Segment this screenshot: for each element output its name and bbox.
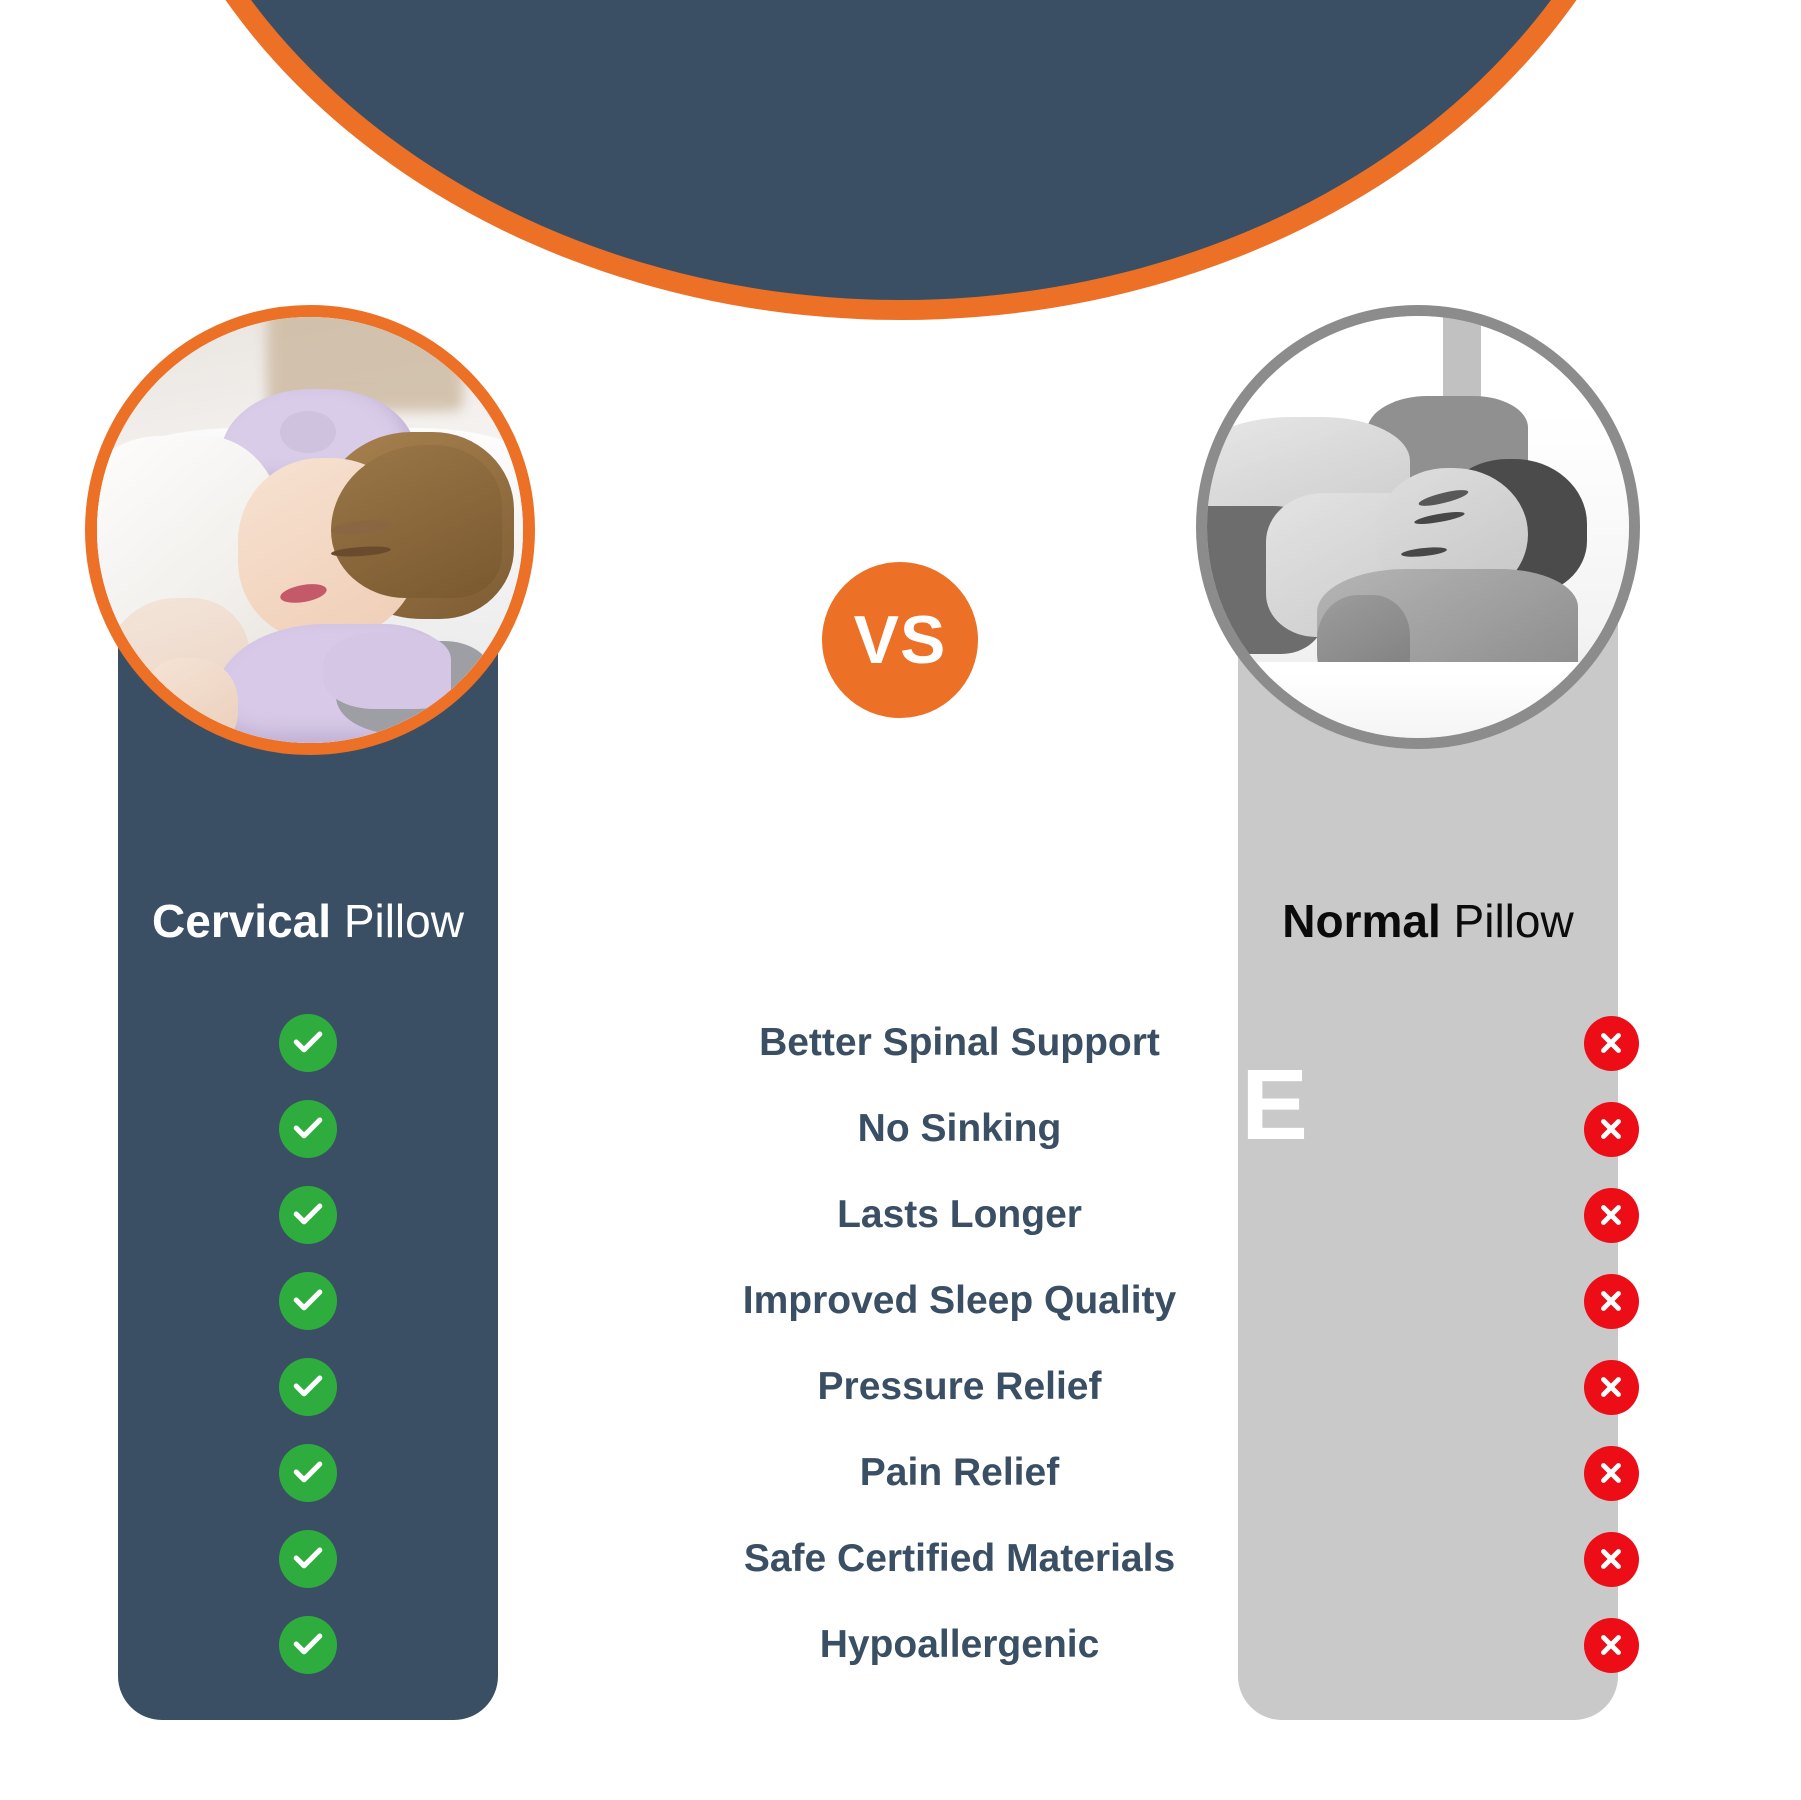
- feature-row: No Sinking: [0, 1086, 1801, 1172]
- header-arc-inner-fill: [138, 0, 1664, 300]
- cervical-pillow-title-bold: Cervical: [152, 895, 331, 947]
- feature-row: Improved Sleep Quality: [0, 1258, 1801, 1344]
- cervical-pillow-title-regular: Pillow: [344, 895, 464, 947]
- feature-row: Pressure Relief: [0, 1344, 1801, 1430]
- check-circle-icon: [279, 1100, 337, 1158]
- normal-pillow-mark-cell: [1421, 1618, 1801, 1673]
- cervical-pillow-mark-cell: [118, 1530, 498, 1588]
- vs-badge: VS: [822, 562, 978, 718]
- cervical-pillow-mark-cell: [118, 1272, 498, 1330]
- vs-badge-label: VS: [854, 601, 947, 679]
- feature-row: Lasts Longer: [0, 1172, 1801, 1258]
- feature-label: Hypoallergenic: [498, 1623, 1421, 1667]
- normal-pillow-photo: [1196, 305, 1640, 749]
- check-circle-icon: [279, 1530, 337, 1588]
- header-arc-banner: [0, 0, 1801, 320]
- normal-pillow-mark-cell: [1421, 1188, 1801, 1243]
- feature-label: No Sinking: [498, 1107, 1421, 1151]
- normal-pillow-mark-cell: [1421, 1360, 1801, 1415]
- check-circle-icon: [279, 1444, 337, 1502]
- check-circle-icon: [279, 1358, 337, 1416]
- feature-label: Lasts Longer: [498, 1193, 1421, 1237]
- feature-label: Pain Relief: [498, 1451, 1421, 1495]
- normal-pillow-mark-cell: [1421, 1016, 1801, 1071]
- cross-circle-icon: [1584, 1446, 1639, 1501]
- cervical-pillow-title: Cervical Pillow: [118, 898, 498, 944]
- cervical-pillow-mark-cell: [118, 1014, 498, 1072]
- feature-label: Pressure Relief: [498, 1365, 1421, 1409]
- feature-row: Hypoallergenic: [0, 1602, 1801, 1688]
- check-circle-icon: [279, 1186, 337, 1244]
- feature-label: Safe Certified Materials: [498, 1537, 1421, 1581]
- feature-row: Safe Certified Materials: [0, 1516, 1801, 1602]
- check-circle-icon: [279, 1014, 337, 1072]
- feature-label: Improved Sleep Quality: [498, 1279, 1421, 1323]
- normal-pillow-mark-cell: [1421, 1274, 1801, 1329]
- cervical-pillow-photo-illustration: [97, 317, 523, 743]
- cervical-pillow-photo: [85, 305, 535, 755]
- cervical-pillow-mark-cell: [118, 1444, 498, 1502]
- cross-circle-icon: [1584, 1360, 1639, 1415]
- feature-comparison-list: Better Spinal SupportNo SinkingLasts Lon…: [0, 1000, 1801, 1688]
- feature-row: Better Spinal Support: [0, 1000, 1801, 1086]
- cross-circle-icon: [1584, 1532, 1639, 1587]
- cervical-pillow-mark-cell: [118, 1100, 498, 1158]
- check-circle-icon: [279, 1272, 337, 1330]
- cervical-pillow-mark-cell: [118, 1358, 498, 1416]
- comparison-infographic: LET’S COMPARE: [0, 0, 1801, 1800]
- feature-row: Pain Relief: [0, 1430, 1801, 1516]
- cervical-pillow-mark-cell: [118, 1616, 498, 1674]
- normal-pillow-title-bold: Normal: [1282, 895, 1440, 947]
- normal-pillow-title-regular: Pillow: [1454, 895, 1574, 947]
- normal-pillow-photo-illustration: [1207, 316, 1629, 738]
- cross-circle-icon: [1584, 1188, 1639, 1243]
- normal-pillow-mark-cell: [1421, 1532, 1801, 1587]
- normal-pillow-mark-cell: [1421, 1102, 1801, 1157]
- check-circle-icon: [279, 1616, 337, 1674]
- cross-circle-icon: [1584, 1274, 1639, 1329]
- feature-label: Better Spinal Support: [498, 1021, 1421, 1065]
- cross-circle-icon: [1584, 1618, 1639, 1673]
- cross-circle-icon: [1584, 1102, 1639, 1157]
- cervical-pillow-mark-cell: [118, 1186, 498, 1244]
- cross-circle-icon: [1584, 1016, 1639, 1071]
- normal-pillow-title: Normal Pillow: [1238, 898, 1618, 944]
- normal-pillow-mark-cell: [1421, 1446, 1801, 1501]
